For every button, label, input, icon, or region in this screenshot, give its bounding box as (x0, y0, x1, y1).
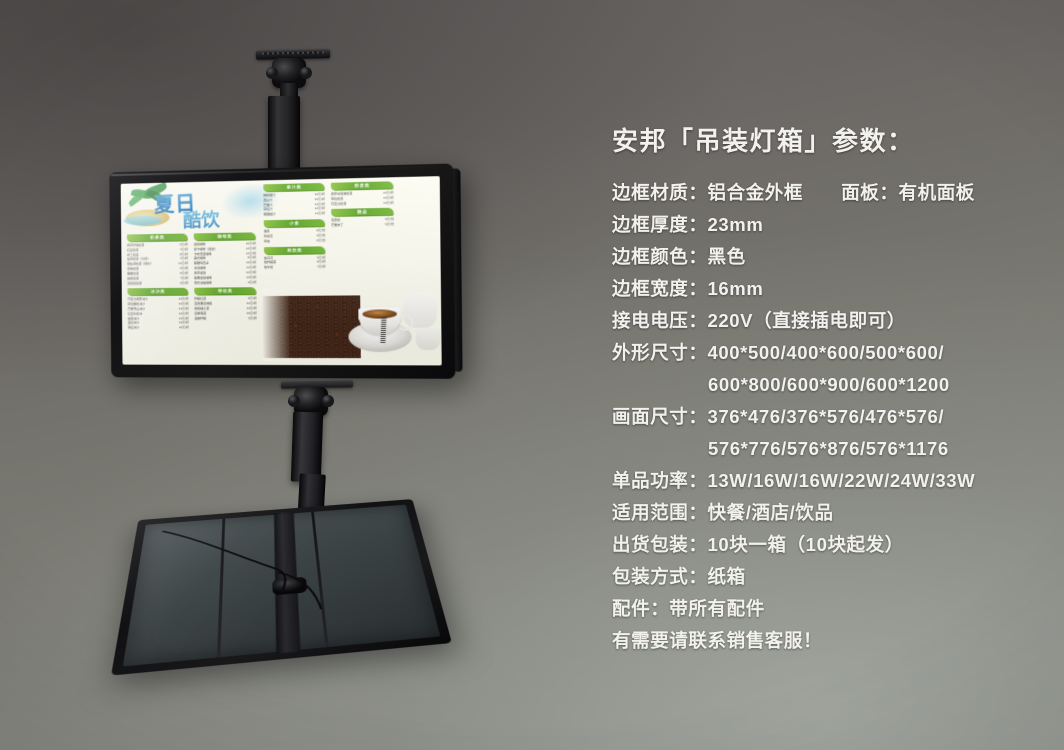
menu-item-name: 鸡块 (264, 239, 270, 244)
menu-section-header: 小食 (264, 219, 326, 228)
spec-line-10: 适用范围：快餐/酒店/饮品 (612, 497, 1032, 529)
menu-section: 小食薯条8元/份鸡米花9元/份鸡块8元/份 (264, 219, 326, 244)
spec-title: 安邦「吊装灯箱」参数： (612, 126, 1032, 157)
spec-line-9: 单品功率：13W/16W/16W/22W/24W/33W (612, 465, 1032, 497)
menu-item-name: 热牛奶 (264, 265, 273, 270)
menu-section-header: 热饮类 (264, 246, 326, 254)
menu-item-name: 意式浓缩咖啡 (194, 280, 212, 285)
spec-line-0: 边框材质：铝合金外框 面板：有机面板 (612, 177, 1032, 209)
menu-item-price: 9元/份 (385, 222, 394, 227)
menu-item-price: 14元/杯 (383, 200, 394, 205)
menu-item-name: 猕猴桃汁 (264, 212, 276, 217)
spec-line-5: 外形尺寸：400*500/400*600/500*600/ (612, 337, 1032, 369)
menu-section: 奶昔类香草冰淇淋奶昔13元/杯草莓奶昔13元/杯巧克力奶昔14元/杯 (331, 181, 394, 206)
menu-section: 果汁类鲜榨橙汁10元/杯西瓜汁10元/杯芒果汁12元/杯草莓汁12元/杯猕猴桃汁… (263, 183, 325, 217)
menu-item-row: 芒果布丁9元/份 (331, 222, 394, 228)
spec-line-7: 画面尺寸：376*476/376*576/476*576/ (612, 401, 1032, 433)
coffee-photo (262, 287, 440, 362)
product-photo-scene: 夏日 酷饮 奶茶类香芋珍珠奶茶6元/杯红豆奶茶7元/杯布丁奶茶8元/杯仙草奶茶（… (0, 0, 1064, 750)
spec-line-13: 配件：带所有配件 (612, 593, 1032, 625)
menu-section-header: 甜品 (331, 208, 394, 217)
spec-line-11: 出货包装：10块一箱（10块起发） (612, 529, 1032, 561)
menu-item-price: 9元/杯 (248, 316, 257, 321)
menu-section: 冰沙类巧克力香蕉冰沙12元/杯草莓酸奶冰沙12元/杯芒果雪山冰沙13元/杯红豆牛… (127, 288, 188, 330)
spec-line-2: 边框颜色：黑色 (612, 241, 1032, 273)
light-box-front: 夏日 酷饮 奶茶类香芋珍珠奶茶6元/杯红豆奶茶7元/杯布丁奶茶8元/杯仙草奶茶（… (109, 163, 455, 378)
menu-item-name: 金桔柠檬 (195, 316, 207, 321)
spec-line-4: 接电电压：220V（直接插电即可） (612, 305, 1032, 337)
spec-line-1: 边框厚度：23mm (612, 209, 1032, 241)
menu-title-line2: 酷饮 (183, 207, 220, 236)
menu-item-row: 意式浓缩咖啡9元/杯 (194, 280, 256, 285)
menu-section-header: 冰沙类 (127, 288, 188, 296)
menu-item-name: 巧克力奶昔 (331, 201, 346, 206)
menu-item-name: 芒果布丁 (331, 223, 343, 228)
menu-panel: 夏日 酷饮 奶茶类香芋珍珠奶茶6元/杯红豆奶茶7元/杯布丁奶茶8元/杯仙草奶茶（… (121, 176, 442, 365)
menu-item-row: 巧克力奶昔14元/杯 (331, 200, 394, 206)
menu-section: 奶茶类香芋珍珠奶茶6元/杯红豆奶茶7元/杯布丁奶茶8元/杯仙草奶茶（大杯）7元/… (127, 233, 189, 285)
menu-item-row: 金桔柠檬9元/杯 (195, 316, 257, 321)
mount-pole-middle (291, 411, 323, 482)
spec-line-6: 600*800/600*900/600*1200 (612, 369, 1032, 401)
menu-item-row: 猕猴桃汁11元/杯 (264, 211, 326, 217)
spec-panel: 安邦「吊装灯箱」参数： 边框材质：铝合金外框 面板：有机面板边框厚度：23mm边… (612, 126, 1032, 657)
spec-line-8: 576*776/576*876/576*1176 (612, 433, 1032, 465)
menu-item-row: 鸡块8元/份 (264, 238, 326, 244)
menu-item-row: 绿豆冰沙10元/杯 (128, 325, 189, 330)
menu-section-header: 果汁类 (263, 183, 325, 192)
menu-item-price: 7元/杯 (317, 265, 326, 270)
menu-item-name: 双皮奶奶茶 (127, 281, 141, 286)
menu-section-header: 奶茶类 (127, 233, 188, 241)
menu-item-price: 9元/杯 (248, 280, 257, 285)
menu-content: 夏日 酷饮 奶茶类香芋珍珠奶茶6元/杯红豆奶茶7元/杯布丁奶茶8元/杯仙草奶茶（… (121, 176, 442, 365)
spec-line-12: 包装方式：纸箱 (612, 561, 1032, 593)
spec-line-14: 有需要请联系销售客服！ (612, 625, 1032, 657)
menu-section: 热饮类热可可9元/杯热柠檬茶8元/杯热牛奶7元/杯 (264, 246, 326, 270)
menu-item-row: 热牛奶7元/杯 (264, 265, 326, 271)
spec-list: 边框材质：铝合金外框 面板：有机面板边框厚度：23mm边框颜色：黑色边框宽度：1… (612, 177, 1032, 657)
menu-section-header: 咖啡类 (194, 232, 256, 240)
menu-section-header: 奶昔类 (331, 181, 394, 190)
menu-item-price: 8元/份 (317, 238, 326, 243)
spec-line-3: 边框宽度：16mm (612, 273, 1032, 305)
menu-section-header: 特饮类 (194, 287, 256, 295)
menu-item-price: 10元/杯 (179, 325, 189, 330)
menu-item-price: 9元/杯 (180, 280, 188, 285)
light-box-back (111, 499, 452, 676)
menu-item-name: 绿豆冰沙 (128, 326, 140, 331)
menu-section: 特饮类柠檬红茶8元/杯百香果双响炮12元/杯蜂蜜柚子茶12元/杯四季春茶10元/… (194, 287, 257, 320)
menu-item-price: 11元/杯 (315, 211, 325, 216)
photo-fade-overlay (262, 287, 440, 362)
menu-section: 甜品双皮奶9元/份芒果布丁9元/份 (331, 208, 394, 228)
menu-section: 咖啡类拿铁咖啡10元/杯摩卡咖啡（加浓）12元/杯卡布奇诺咖啡12元/杯美式咖啡… (194, 232, 257, 285)
menu-item-row: 双皮奶奶茶9元/杯 (127, 280, 188, 285)
